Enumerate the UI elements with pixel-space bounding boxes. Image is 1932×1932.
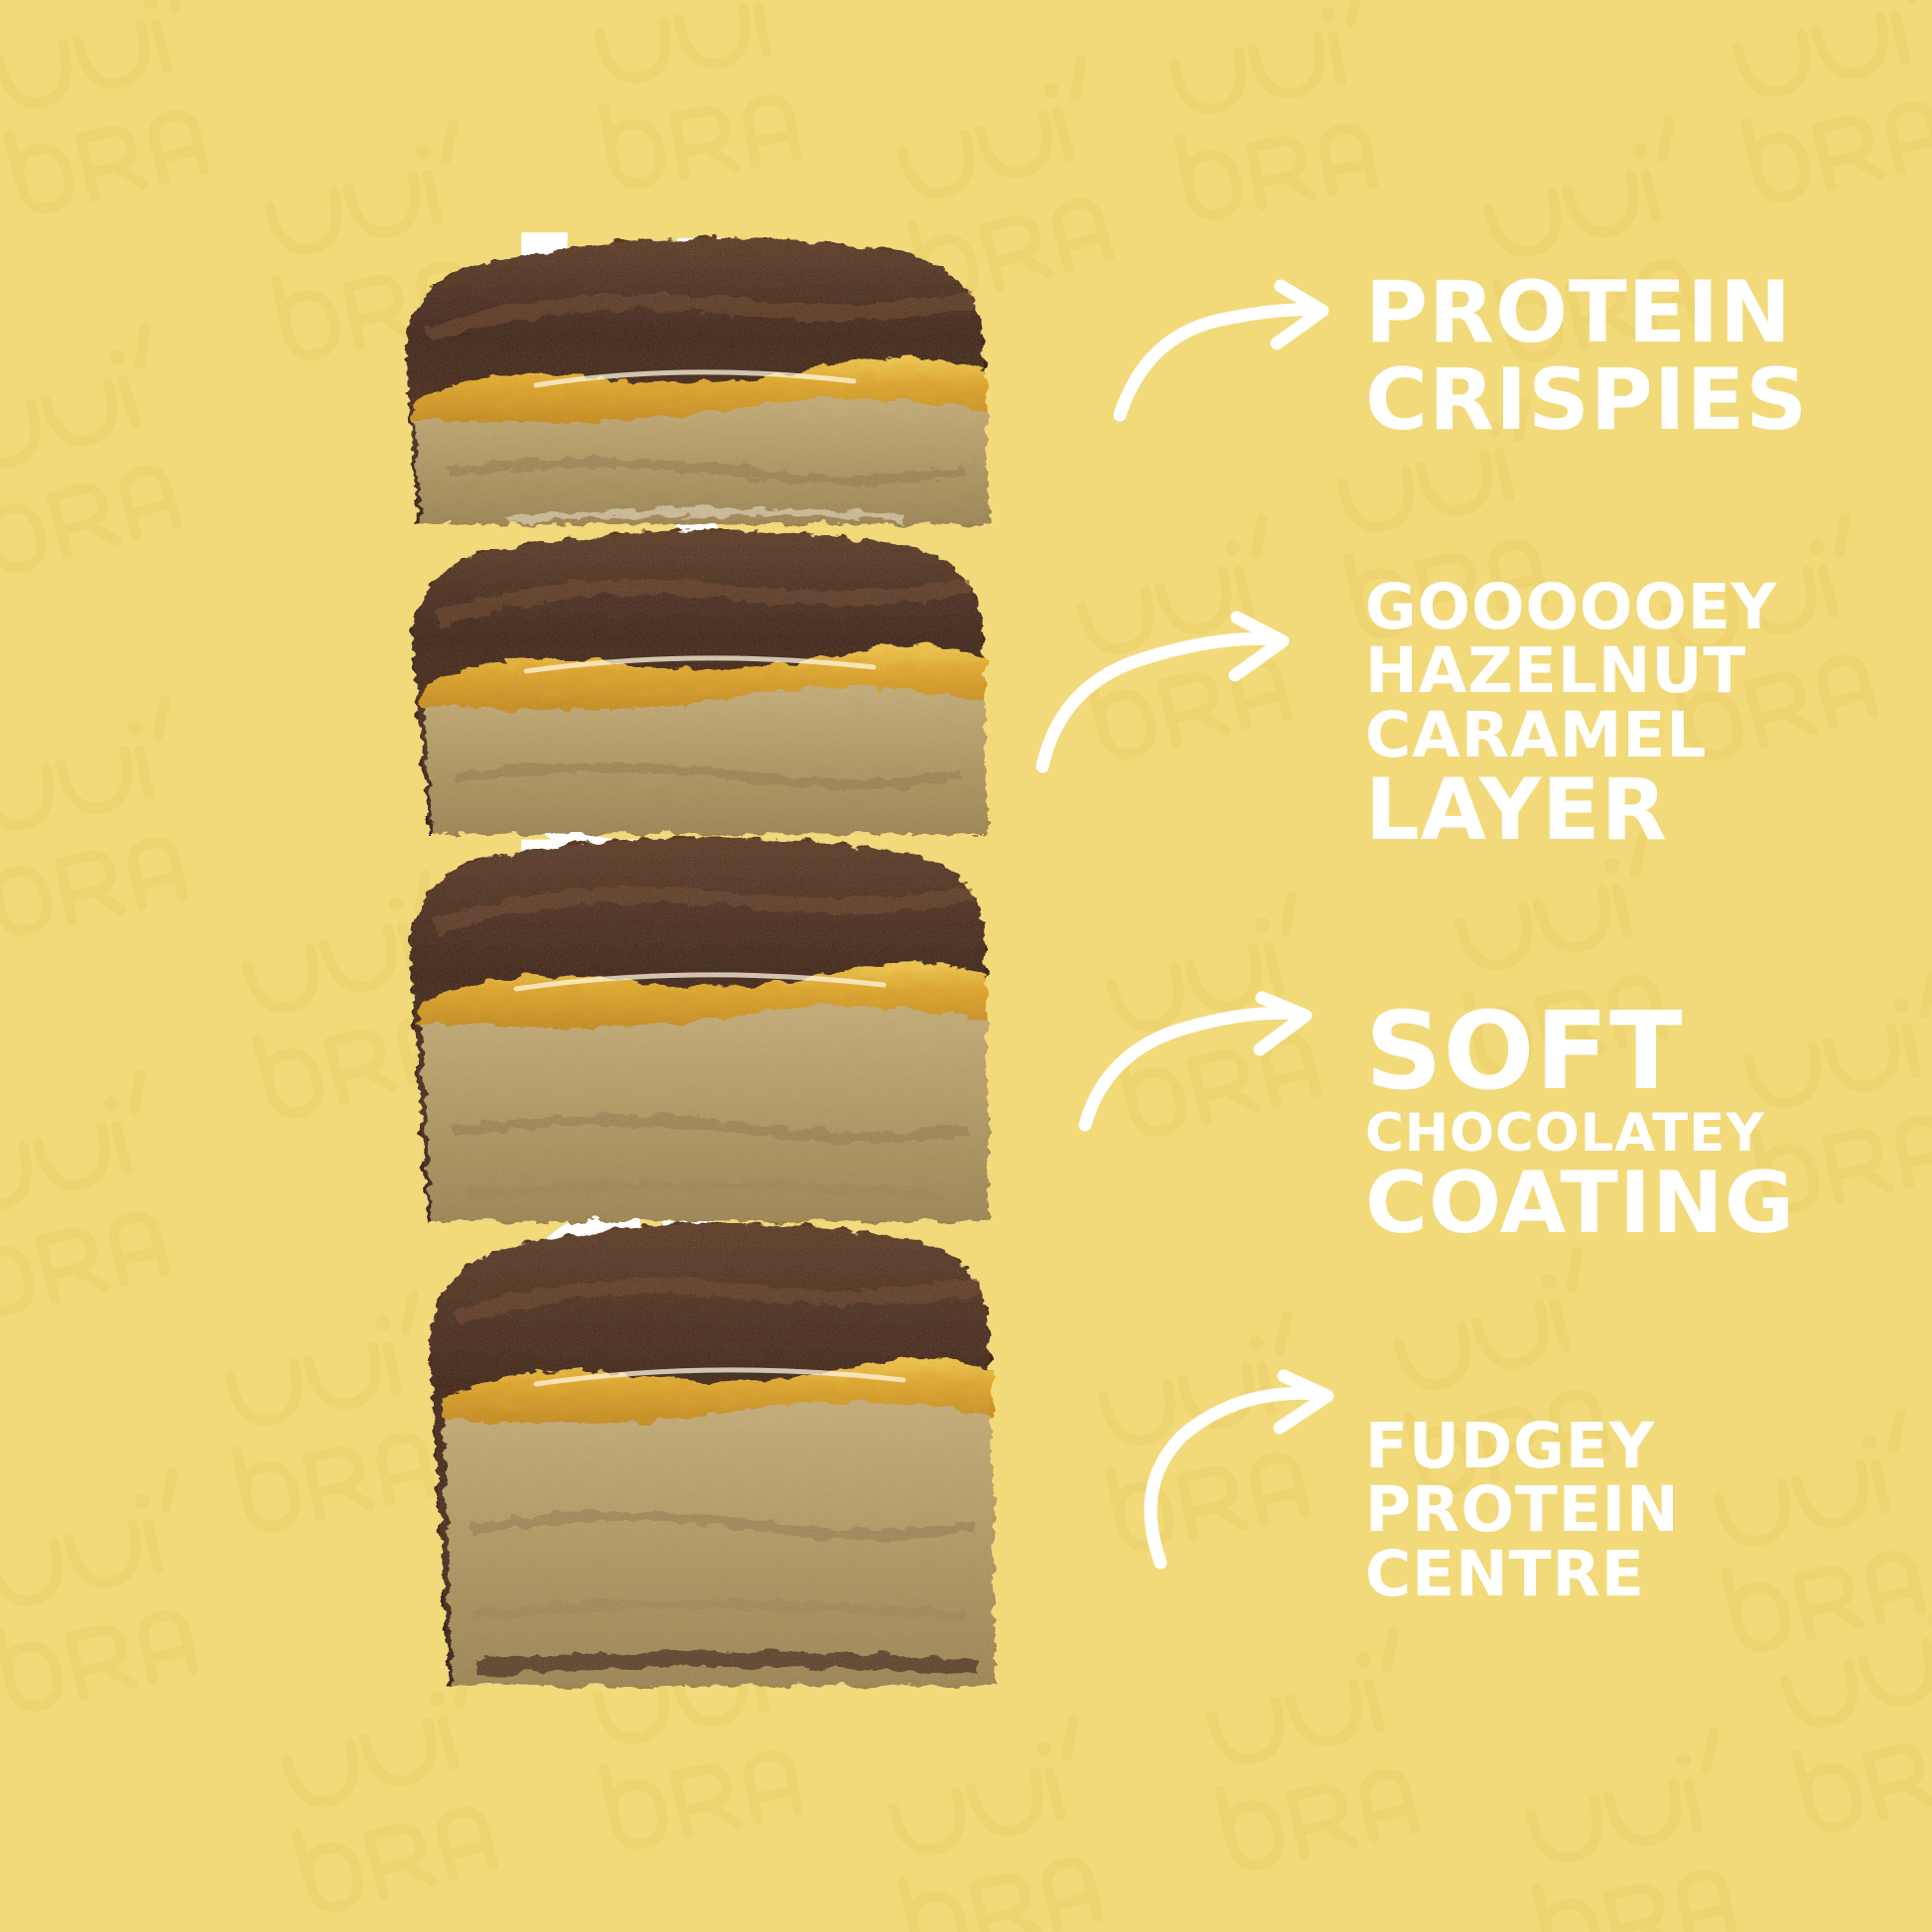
callout-line: CARAMEL: [1365, 704, 1777, 767]
callout-arrow-4: [1117, 1380, 1375, 1569]
callout-line: GOOOOOEY: [1365, 576, 1777, 639]
bar-slice-stack: [387, 226, 1013, 1716]
bar-slice-3: [387, 834, 1013, 1241]
poster-canvas: peanut: [0, 0, 1932, 1932]
callout-label-protein-crispies: PROTEIN CRISPIES: [1365, 270, 1808, 444]
callout-line: PROTEIN: [1365, 270, 1808, 357]
callout-arrow-2: [1033, 616, 1330, 774]
callout-line: CENTRE: [1365, 1543, 1680, 1606]
callout-line: CRISPIES: [1365, 357, 1808, 445]
bar-slice-1: [387, 226, 1013, 544]
callout-line: COATING: [1365, 1161, 1795, 1248]
bar-slice-2: [387, 524, 1013, 852]
callout-label-hazelnut-caramel-layer: GOOOOOEY HAZELNUT CARAMEL LAYER: [1365, 576, 1777, 854]
callout-line: PROTEIN: [1365, 1478, 1680, 1542]
callout-arrow-1: [1112, 280, 1370, 419]
bar-slice-4: [387, 1219, 1013, 1716]
callout-line: FUDGEY: [1365, 1415, 1680, 1478]
callout-line: LAYER: [1365, 767, 1777, 855]
callout-line: SOFT: [1365, 998, 1795, 1107]
callout-label-fudgey-protein-centre: FUDGEY PROTEIN CENTRE: [1365, 1415, 1680, 1606]
callout-label-chocolatey-coating: SOFT CHOCOLATEY COATING: [1365, 998, 1795, 1248]
callout-line: HAZELNUT: [1365, 639, 1777, 703]
callout-line: CHOCOLATEY: [1365, 1107, 1795, 1161]
callout-arrow-3: [1077, 998, 1345, 1132]
